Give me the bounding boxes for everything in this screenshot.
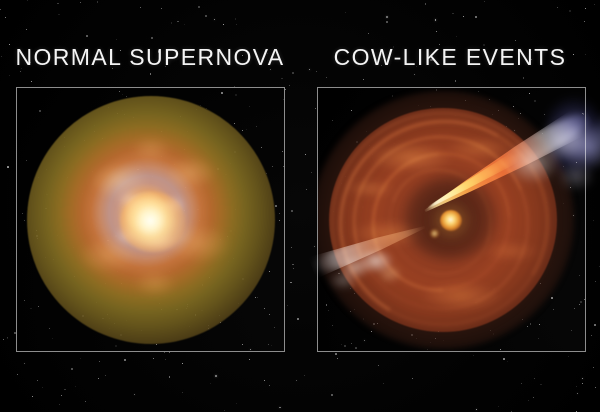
star <box>569 10 571 12</box>
star <box>500 349 501 350</box>
star <box>528 400 529 401</box>
star <box>255 297 256 298</box>
star <box>538 338 539 339</box>
star <box>150 73 152 75</box>
star <box>281 78 283 80</box>
star <box>594 324 595 325</box>
star <box>249 106 250 107</box>
star <box>351 343 352 344</box>
star <box>9 75 10 76</box>
star <box>456 36 457 37</box>
star <box>585 8 586 9</box>
star <box>24 220 25 221</box>
star <box>282 151 283 152</box>
star <box>484 1 485 2</box>
star <box>17 374 18 375</box>
star <box>540 384 542 386</box>
star <box>392 95 394 97</box>
star <box>435 19 436 20</box>
star <box>593 367 594 368</box>
star <box>289 85 290 86</box>
star <box>476 409 477 410</box>
star <box>57 3 59 5</box>
star <box>198 6 200 8</box>
star <box>115 345 117 347</box>
star <box>475 16 477 18</box>
star <box>511 411 512 412</box>
star <box>364 340 365 341</box>
star <box>31 81 32 82</box>
star <box>49 328 51 330</box>
star <box>171 22 173 24</box>
star <box>37 380 38 381</box>
star <box>576 386 577 387</box>
star <box>235 18 237 20</box>
star <box>184 24 185 25</box>
star <box>275 205 277 207</box>
star <box>80 2 81 3</box>
star <box>368 33 370 35</box>
star <box>463 16 464 17</box>
star <box>269 271 270 272</box>
star <box>503 358 505 360</box>
star <box>315 108 316 109</box>
star <box>283 166 284 168</box>
star <box>533 397 534 398</box>
star <box>582 383 583 384</box>
star <box>234 123 235 124</box>
star <box>414 74 415 75</box>
star <box>498 406 499 407</box>
star <box>116 39 117 40</box>
star <box>58 14 59 15</box>
star <box>80 358 81 359</box>
star <box>305 154 306 155</box>
panel-title-cow-like-events: COW-LIKE EVENTS <box>300 44 600 71</box>
panel-title-normal-supernova: NORMAL SUPERNOVA <box>0 44 300 71</box>
star <box>39 110 41 112</box>
star <box>269 385 270 386</box>
star <box>24 300 25 301</box>
star <box>153 358 154 359</box>
star <box>236 24 237 25</box>
star <box>571 330 572 331</box>
star <box>580 301 582 303</box>
star <box>22 213 23 214</box>
star <box>0 9 1 10</box>
star <box>256 126 257 127</box>
star <box>594 4 595 5</box>
star <box>59 404 60 405</box>
star <box>268 344 269 345</box>
star <box>98 378 99 379</box>
star <box>71 368 73 370</box>
star <box>383 383 384 384</box>
panel-sky-left <box>17 88 284 351</box>
star <box>26 29 27 30</box>
star <box>99 361 100 362</box>
star <box>38 306 39 307</box>
star <box>182 392 183 393</box>
star <box>5 17 6 18</box>
cow-inner-cavity <box>404 176 496 260</box>
star <box>269 314 270 315</box>
panel-normal-supernova <box>16 87 285 352</box>
star <box>534 378 535 379</box>
star <box>292 72 294 74</box>
star <box>124 359 126 361</box>
star <box>326 304 327 305</box>
star <box>61 395 62 396</box>
star <box>126 96 127 97</box>
star <box>311 172 312 173</box>
star <box>64 389 65 390</box>
star <box>591 335 592 336</box>
star <box>161 8 162 9</box>
star <box>523 77 524 78</box>
star <box>272 166 273 167</box>
star <box>595 281 596 282</box>
star <box>579 304 580 305</box>
star <box>214 19 215 20</box>
star <box>584 21 585 22</box>
star <box>296 380 297 381</box>
star <box>32 396 33 397</box>
star <box>274 327 275 328</box>
star <box>568 356 569 357</box>
star <box>223 24 224 25</box>
star <box>42 387 43 388</box>
star <box>264 380 265 381</box>
star <box>291 247 292 248</box>
star <box>304 375 305 376</box>
star <box>290 282 291 283</box>
star <box>261 147 262 148</box>
star <box>279 213 280 214</box>
star <box>85 401 86 402</box>
astronomy-comparison-figure: NORMAL SUPERNOVA COW-LIKE EVENTS <box>0 0 600 412</box>
star <box>584 299 585 300</box>
star <box>507 361 508 362</box>
star <box>337 358 338 359</box>
star <box>335 353 337 355</box>
star <box>452 13 454 15</box>
star <box>436 31 437 32</box>
star <box>557 7 558 8</box>
star <box>574 308 575 309</box>
star <box>316 71 317 72</box>
star <box>515 40 516 41</box>
cow-counter-jet-cloud <box>326 238 412 302</box>
star <box>279 407 280 408</box>
star <box>250 349 251 350</box>
star <box>205 15 207 17</box>
star <box>331 394 333 396</box>
star <box>86 35 88 37</box>
star <box>182 363 183 364</box>
star <box>344 345 345 346</box>
star <box>293 268 294 269</box>
star <box>455 80 457 82</box>
star <box>283 99 284 100</box>
star <box>473 355 474 356</box>
star <box>595 387 596 388</box>
star <box>236 403 237 404</box>
star <box>215 375 217 377</box>
star <box>593 220 594 221</box>
star <box>599 266 600 267</box>
star <box>386 16 388 18</box>
star <box>341 344 342 345</box>
star <box>52 338 53 339</box>
star <box>134 394 135 395</box>
star <box>210 383 211 384</box>
star <box>345 12 346 13</box>
star <box>326 77 327 78</box>
star <box>577 393 578 394</box>
star <box>257 297 258 298</box>
star <box>297 318 299 320</box>
star <box>119 91 120 92</box>
star <box>27 0 28 1</box>
star <box>287 305 288 306</box>
star <box>478 91 479 92</box>
star <box>314 246 315 247</box>
star <box>425 3 427 5</box>
star <box>246 129 247 130</box>
star <box>140 7 141 8</box>
star <box>177 21 178 22</box>
star <box>529 93 530 94</box>
star <box>221 92 223 94</box>
star <box>151 37 153 39</box>
star <box>279 220 280 221</box>
cow-jet-blue-tip <box>548 96 600 178</box>
star <box>165 359 166 360</box>
star <box>427 349 428 350</box>
star <box>513 106 514 107</box>
star <box>579 275 580 276</box>
star <box>105 375 106 376</box>
star <box>156 344 157 345</box>
star <box>266 173 267 174</box>
supernova-bright-core <box>120 192 186 252</box>
star <box>75 386 76 387</box>
star <box>534 100 536 102</box>
star <box>306 189 307 190</box>
star <box>242 130 243 131</box>
star <box>242 344 243 345</box>
star <box>378 365 379 366</box>
star <box>271 345 272 346</box>
star <box>521 383 522 384</box>
star <box>169 376 171 378</box>
star <box>355 347 357 349</box>
star <box>249 359 250 360</box>
star <box>292 264 294 266</box>
star <box>412 378 413 379</box>
star <box>224 410 225 411</box>
star <box>363 79 364 80</box>
star <box>386 21 388 23</box>
star <box>122 94 123 95</box>
star <box>26 160 27 161</box>
star <box>24 363 25 364</box>
star <box>3 339 4 340</box>
star <box>235 94 237 96</box>
star <box>7 166 9 168</box>
star <box>582 378 583 379</box>
star <box>291 210 293 212</box>
star <box>264 308 265 309</box>
star <box>97 1 98 2</box>
star <box>30 308 31 309</box>
